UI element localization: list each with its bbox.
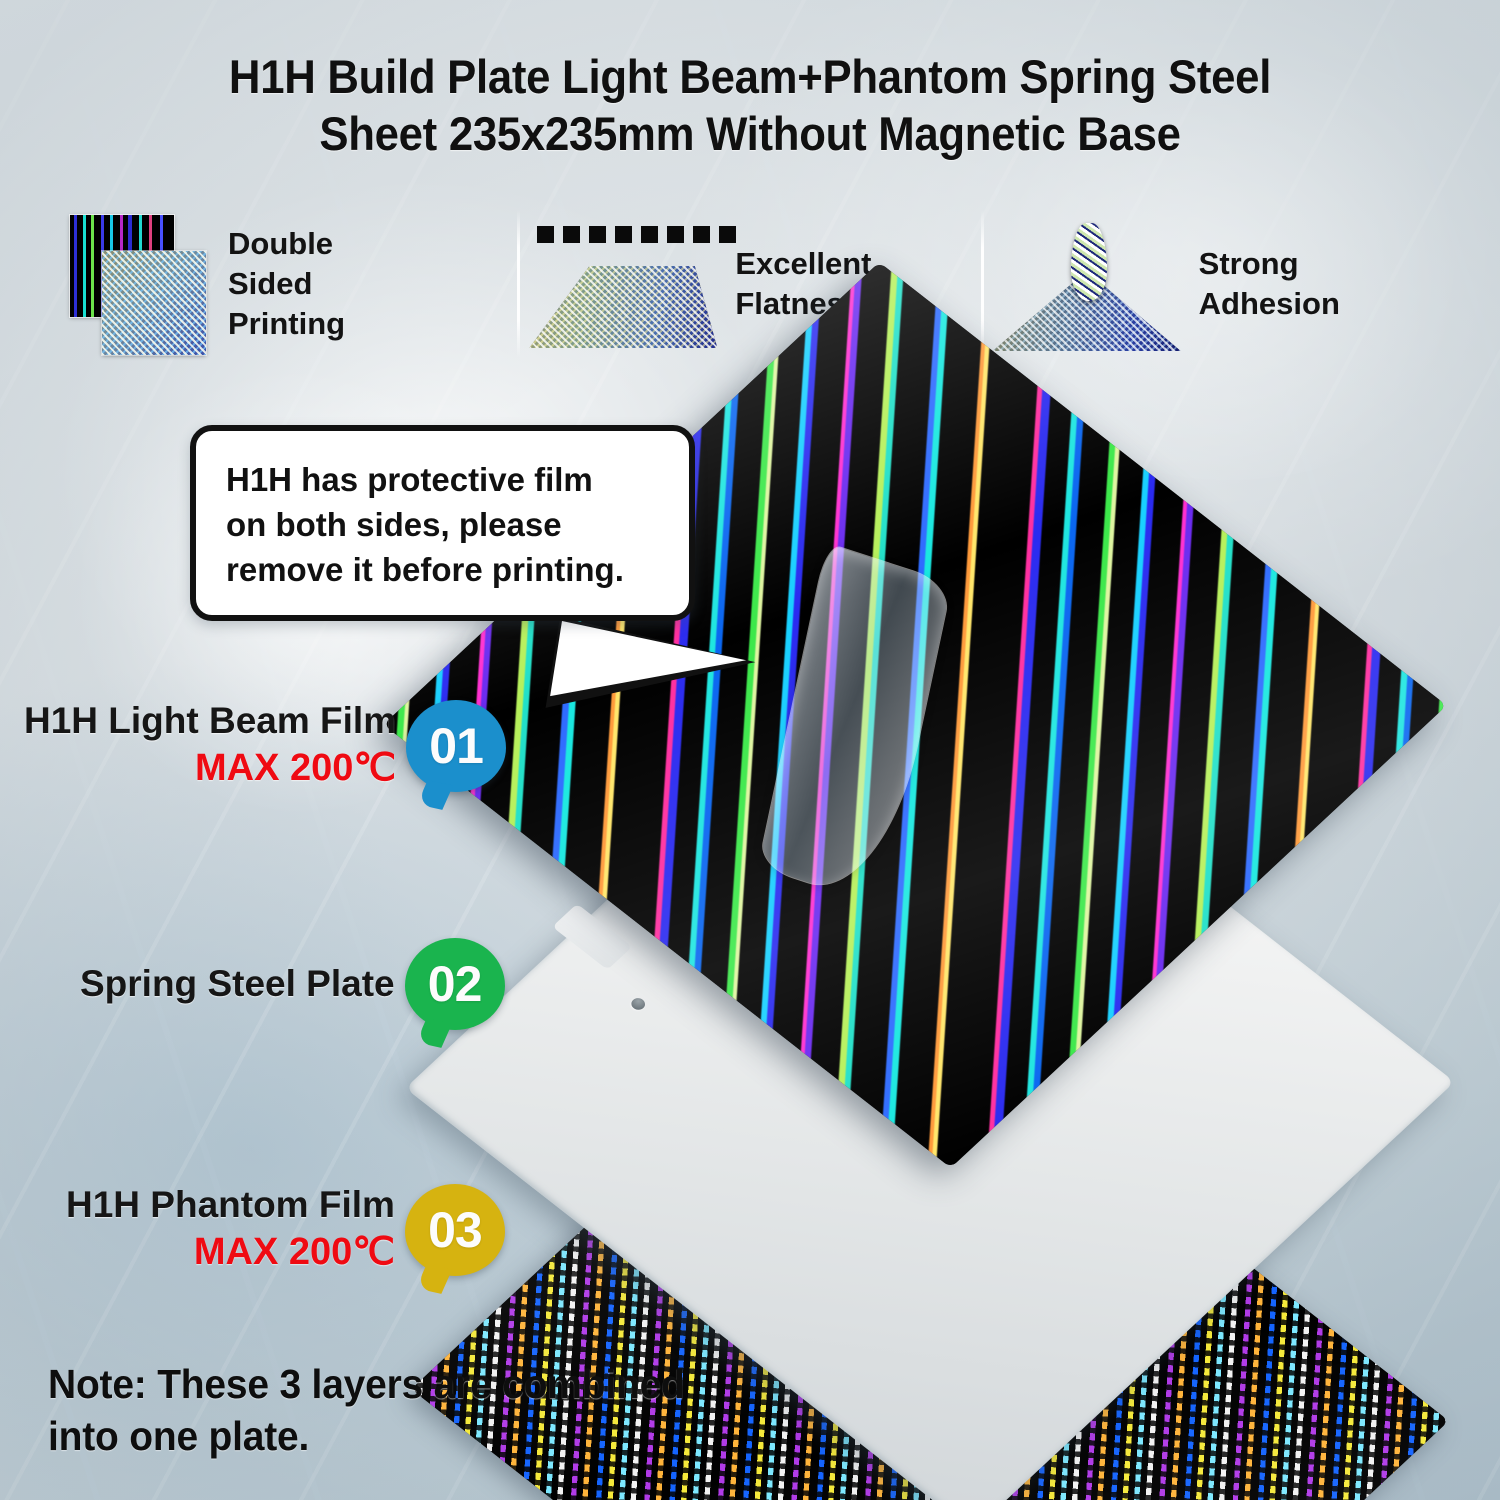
layer-max-temp: MAX 200℃ xyxy=(66,1230,395,1275)
layer-label-text-group: H1H Light Beam Film MAX 200℃ xyxy=(24,701,396,792)
layer-max-temp: MAX 200℃ xyxy=(24,746,396,791)
double-sided-holo-squares-icon xyxy=(66,209,212,359)
holo-diagonal-square xyxy=(102,251,206,355)
feature-label: Strong Adhesion xyxy=(1199,244,1340,323)
layer-label-02: Spring Steel Plate 02 xyxy=(80,938,505,1030)
callout-text: H1H has protective film on both sides, p… xyxy=(226,457,665,593)
layer-title: Spring Steel Plate xyxy=(80,964,395,1005)
layer-label-01: H1H Light Beam Film MAX 200℃ 01 xyxy=(24,700,506,792)
feature-strong-adhesion: Strong Adhesion xyxy=(987,196,1450,372)
printed-vase-shape xyxy=(1071,223,1107,301)
layer-label-text-group: H1H Phantom Film MAX 200℃ xyxy=(66,1185,395,1276)
layer-title: H1H Light Beam Film xyxy=(24,701,396,742)
layer-number: 02 xyxy=(428,959,482,1009)
flat-holo-plate-shape xyxy=(529,266,717,348)
layer-label-03: H1H Phantom Film MAX 200℃ 03 xyxy=(66,1184,505,1276)
flat-plate-dashes-icon xyxy=(529,214,719,354)
page-title: H1H Build Plate Light Beam+Phantom Sprin… xyxy=(53,48,1448,163)
feature-label: Excellent Flatness xyxy=(735,244,871,323)
layer-number-badge: 02 xyxy=(405,938,505,1030)
layer-number: 03 xyxy=(428,1205,482,1255)
layer-number: 01 xyxy=(429,721,483,771)
product-infographic: H1H Build Plate Light Beam+Phantom Sprin… xyxy=(0,0,1500,1500)
feature-excellent-flatness: Excellent Flatness xyxy=(523,196,986,372)
feature-label: Double Sided Printing xyxy=(228,224,345,343)
protective-film-callout: H1H has protective film on both sides, p… xyxy=(190,425,695,621)
layer-label-text-group: Spring Steel Plate xyxy=(80,964,395,1005)
bottom-note: Note: These 3 layers are combined into o… xyxy=(48,1358,770,1463)
feature-double-sided-printing: Double Sided Printing xyxy=(60,196,523,372)
layer-title: H1H Phantom Film xyxy=(66,1185,395,1226)
layer-number-badge: 03 xyxy=(405,1184,505,1276)
dash-marker-row xyxy=(537,226,736,243)
printed-vase-on-plate-icon xyxy=(993,213,1183,355)
layer-number-badge: 01 xyxy=(406,700,506,792)
feature-row: Double Sided Printing Excellent Flatness… xyxy=(60,196,1450,372)
